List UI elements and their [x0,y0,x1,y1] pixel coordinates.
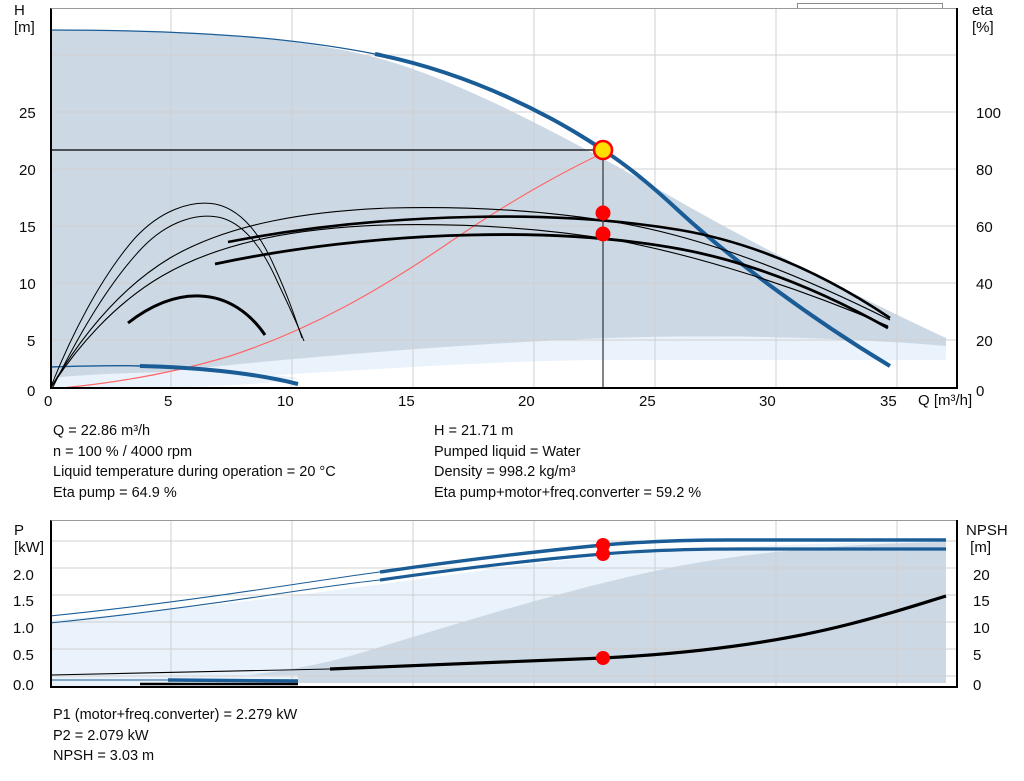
lower-y2-axis-label: NPSH [m] [966,522,1008,556]
lower-y-tick: 2.0 [13,568,34,583]
lower-y-tick: 0.0 [13,678,34,693]
upper-plot-frame [50,8,958,389]
upper-y-tick: 10 [19,277,36,292]
duty-info-right-line: Eta pump+motor+freq.converter = 59.2 % [434,483,701,504]
upper-y2-tick: 60 [976,220,993,235]
lower-y-tick: 0.5 [13,648,34,663]
upper-y2-tick: 80 [976,163,993,178]
upper-y-tick: 25 [19,106,36,121]
power-info: P1 (motor+freq.converter) = 2.279 kW P2 … [53,705,297,767]
upper-x-tick: 0 [44,394,52,409]
upper-x-tick: 20 [518,394,535,409]
upper-y-tick: 15 [19,220,36,235]
upper-y2-tick: 0 [976,384,984,399]
head-efficiency-chart: H [m] eta [%] Q [m³/h] CRE 20-1, 3*460 V… [0,0,1024,415]
lower-y2-tick: 15 [973,594,990,609]
upper-y-axis-label: H [m] [14,2,35,36]
lower-y-axis-label: P [kW] [14,522,44,556]
upper-y-tick: 0 [27,384,35,399]
upper-x-axis-label: Q [m³/h] [918,392,972,409]
upper-x-tick: 10 [277,394,294,409]
lower-plot-right-axis [956,520,958,688]
lower-plot-area [50,520,958,688]
upper-x-tick: 5 [164,394,172,409]
lower-y2-tick: 5 [973,648,981,663]
power-npsh-chart: P [kW] NPSH [m] 2.0 1.5 1.0 0.5 0.0 20 1… [0,510,1024,700]
duty-info-left-line: Liquid temperature during operation = 20… [53,462,336,483]
lower-y2-tick: 20 [973,568,990,583]
duty-info-right-line: H = 21.71 m [434,421,701,442]
upper-y2-tick: 100 [976,106,1001,121]
lower-y2-tick: 10 [973,621,990,636]
upper-y2-tick: 40 [976,277,993,292]
upper-x-tick: 25 [639,394,656,409]
upper-y-tick: 5 [27,334,35,349]
power-info-line: NPSH = 3.03 m [53,746,297,767]
duty-info-left-line: n = 100 % / 4000 rpm [53,442,336,463]
duty-info-right-line: Density = 998.2 kg/m³ [434,462,701,483]
upper-x-tick: 15 [398,394,415,409]
upper-plot-right-axis [956,8,958,389]
pump-performance-report: H [m] eta [%] Q [m³/h] CRE 20-1, 3*460 V… [0,0,1024,781]
duty-info-left-line: Eta pump = 64.9 % [53,483,336,504]
upper-plot-area [50,8,958,389]
lower-y-tick: 1.0 [13,621,34,636]
lower-y-tick: 1.5 [13,594,34,609]
lower-y2-tick: 0 [973,678,981,693]
upper-x-tick: 30 [759,394,776,409]
duty-info-right: H = 21.71 m Pumped liquid = Water Densit… [434,421,701,503]
upper-y2-axis-label: eta [%] [972,2,994,36]
duty-info-left-line: Q = 22.86 m³/h [53,421,336,442]
upper-y-tick: 20 [19,163,36,178]
power-info-line: P2 = 2.079 kW [53,726,297,747]
upper-x-tick: 35 [880,394,897,409]
upper-y2-tick: 20 [976,334,993,349]
duty-info-right-line: Pumped liquid = Water [434,442,701,463]
power-info-line: P1 (motor+freq.converter) = 2.279 kW [53,705,297,726]
duty-info-left: Q = 22.86 m³/h n = 100 % / 4000 rpm Liqu… [53,421,336,503]
lower-plot-frame [50,520,958,688]
